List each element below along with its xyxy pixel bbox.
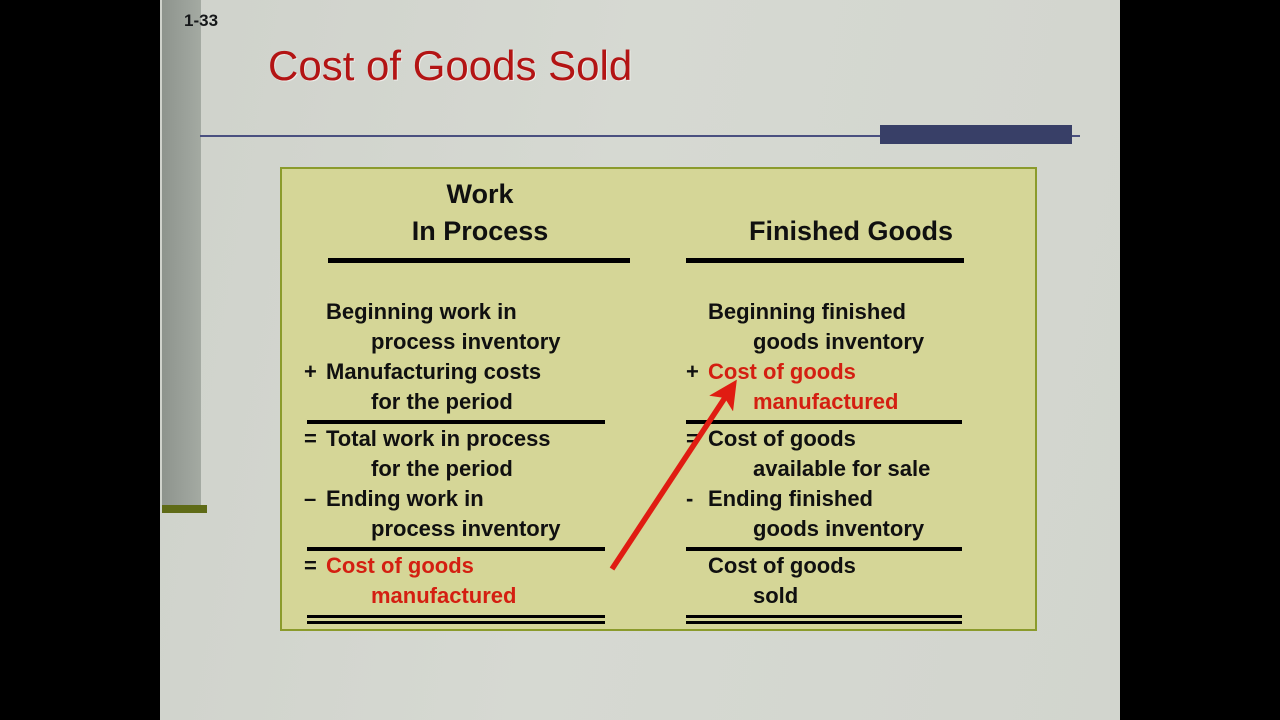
row-line-1: Manufacturing costs [326,357,656,387]
wip-rows: Beginning work in process inventory + Ma… [304,297,656,624]
total-rule-line-1 [307,615,605,618]
total-rule-line-1 [686,615,962,618]
row-line-2: manufactured [708,387,1016,417]
table-row-highlight: = Cost of goods manufactured [304,551,656,611]
row-line-1: Cost of goods [708,357,1016,387]
page-title: Cost of Goods Sold [268,42,632,90]
table-row: Beginning work in process inventory [304,297,656,357]
cost-flow-table: Work In Process Beginning work in proces… [280,167,1037,631]
row-operator: + [686,357,708,387]
column-finished-goods: Finished Goods Beginning finished goods … [686,169,1016,624]
column-header-underline [328,258,630,263]
presentation-slide: 1-33 Cost of Goods Sold Work In Process … [160,0,1120,720]
column-header-underline [686,258,964,263]
row-line-2: sold [708,581,1016,611]
column-header-line-1: Work [304,176,656,213]
total-rule-line-2 [686,621,962,624]
column-header-work-in-process: Work In Process [304,169,656,250]
total-rule-double [307,615,605,624]
column-header-line-2: In Process [304,213,656,250]
column-header-finished-goods: Finished Goods [686,169,1016,250]
column-header-line-2: Finished Goods [686,213,1016,250]
table-row: = Cost of goods available for sale [686,424,1016,484]
table-row: Beginning finished goods inventory [686,297,1016,357]
slide-left-accent-band [162,0,201,513]
row-line-1: Beginning finished [708,297,1016,327]
row-operator: + [304,357,326,387]
slide-left-accent-strip [162,505,207,513]
row-line-1: Ending work in [326,484,656,514]
row-text: Beginning finished goods inventory [708,297,1016,357]
row-text: Cost of goods manufactured [708,357,1016,417]
row-line-2: available for sale [708,454,1016,484]
total-rule-line-2 [307,621,605,624]
row-text: Beginning work in process inventory [326,297,656,357]
row-operator: = [304,424,326,454]
row-line-2: process inventory [326,327,656,357]
table-row: Cost of goods sold [686,551,1016,611]
row-text: Total work in process for the period [326,424,656,484]
row-line-1: Ending finished [708,484,1016,514]
column-work-in-process: Work In Process Beginning work in proces… [304,169,656,624]
row-text: Ending work in process inventory [326,484,656,544]
row-line-2: manufactured [326,581,656,611]
row-line-2: for the period [326,454,656,484]
row-line-2: goods inventory [708,514,1016,544]
row-operator: – [304,484,326,514]
total-rule-double [686,615,962,624]
row-line-1: Cost of goods [326,551,656,581]
row-text: Manufacturing costs for the period [326,357,656,417]
row-text: Cost of goods available for sale [708,424,1016,484]
table-row: + Manufacturing costs for the period [304,357,656,417]
title-divider-block [880,125,1072,144]
table-row: = Total work in process for the period [304,424,656,484]
row-operator: = [304,551,326,581]
table-row: - Ending finished goods inventory [686,484,1016,544]
row-line-1: Beginning work in [326,297,656,327]
row-line-1: Cost of goods [708,551,1016,581]
row-line-1: Total work in process [326,424,656,454]
table-row-highlight: + Cost of goods manufactured [686,357,1016,417]
row-line-2: goods inventory [708,327,1016,357]
slide-viewer: 1-33 Cost of Goods Sold Work In Process … [0,0,1280,720]
table-row: – Ending work in process inventory [304,484,656,544]
row-line-2: for the period [326,387,656,417]
row-line-2: process inventory [326,514,656,544]
row-operator: - [686,484,708,514]
fg-rows: Beginning finished goods inventory + Cos… [686,297,1016,624]
row-text: Cost of goods sold [708,551,1016,611]
row-line-1: Cost of goods [708,424,1016,454]
slide-number: 1-33 [184,11,218,31]
row-text: Cost of goods manufactured [326,551,656,611]
row-operator: = [686,424,708,454]
row-text: Ending finished goods inventory [708,484,1016,544]
